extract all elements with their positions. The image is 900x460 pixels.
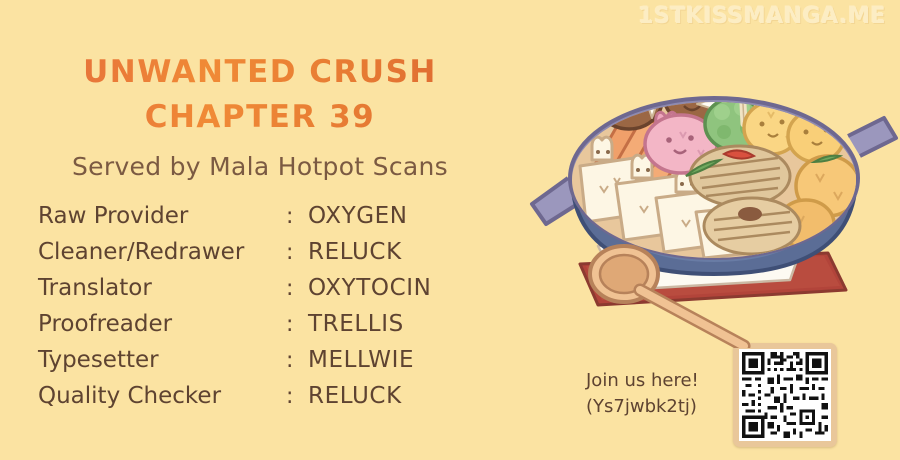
credit-separator: : (286, 276, 308, 301)
sliced-mushroom (704, 198, 800, 254)
credit-name: RELUCK (308, 239, 402, 265)
qr-code-graphic (739, 349, 831, 441)
join-invite: Join us here! (Ys7jwbk2tj) (586, 368, 726, 420)
join-line-2: (Ys7jwbk2tj) (586, 394, 726, 420)
credit-separator: : (286, 348, 308, 373)
join-line-1: Join us here! (586, 368, 726, 394)
credit-separator: : (286, 204, 308, 229)
credit-name: OXYGEN (308, 203, 408, 229)
credit-role: Cleaner/Redrawer (38, 239, 286, 265)
site-watermark: 1STKISSMANGA.ME (638, 4, 886, 29)
chapter-title: CHAPTER 39 (0, 95, 520, 140)
credit-row: Translator : OXYTOCIN (38, 275, 508, 311)
credit-row: Cleaner/Redrawer : RELUCK (38, 239, 508, 275)
credit-role: Translator (38, 275, 286, 301)
credit-role: Proofreader (38, 311, 286, 337)
credit-row: Proofreader : TRELLIS (38, 311, 508, 347)
credit-separator: : (286, 312, 308, 337)
credit-row: Quality Checker : RELUCK (38, 383, 508, 419)
credits-list: Raw Provider : OXYGEN Cleaner/Redrawer :… (38, 203, 508, 419)
hotpot-illustration (528, 28, 900, 348)
credit-name: RELUCK (308, 383, 402, 409)
hotpot-contents (572, 55, 860, 263)
credit-separator: : (286, 384, 308, 409)
credit-name: MELLWIE (308, 347, 414, 373)
scanlation-group-line: Served by Mala Hotpot Scans (0, 152, 520, 181)
credits-page: 1STKISSMANGA.ME UNWANTED CRUSH CHAPTER 3… (0, 0, 900, 460)
qr-code-icon[interactable] (733, 343, 837, 447)
credit-row: Typesetter : MELLWIE (38, 347, 508, 383)
credit-role: Typesetter (38, 347, 286, 373)
credit-name: OXYTOCIN (308, 275, 431, 301)
series-title: UNWANTED CRUSH (0, 50, 520, 95)
credit-role: Raw Provider (38, 203, 286, 229)
credit-name: TRELLIS (308, 311, 404, 337)
title-block: UNWANTED CRUSH CHAPTER 39 (0, 50, 520, 140)
credit-row: Raw Provider : OXYGEN (38, 203, 508, 239)
credit-separator: : (286, 240, 308, 265)
credit-role: Quality Checker (38, 383, 286, 409)
